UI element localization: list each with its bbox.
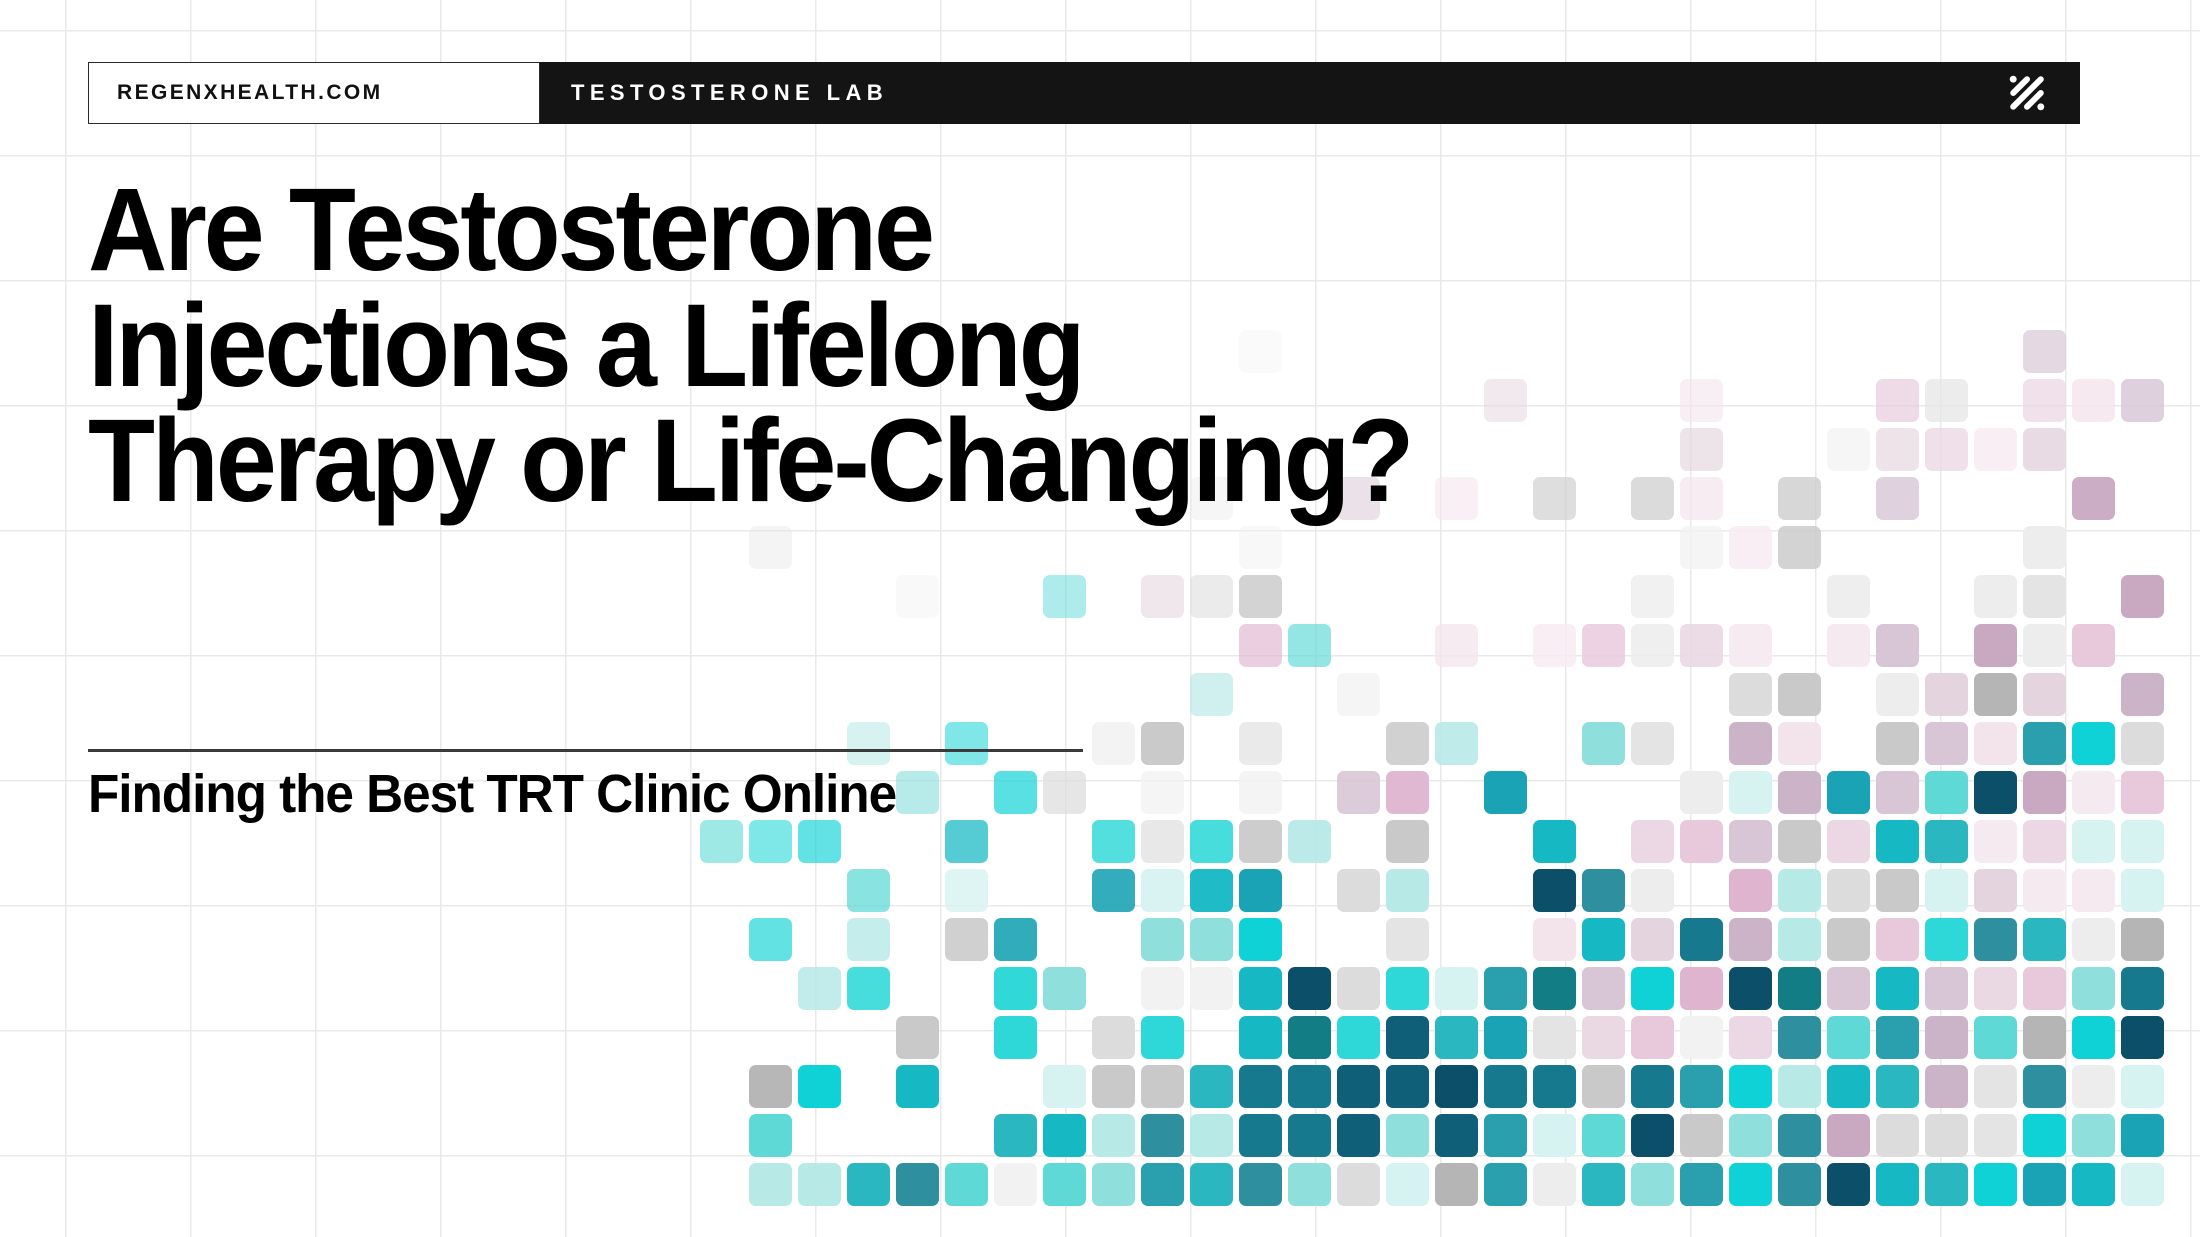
mosaic-tile — [896, 575, 939, 618]
mosaic-tile — [1141, 575, 1184, 618]
mosaic-tile — [1582, 967, 1625, 1010]
mosaic-tile — [1239, 1016, 1282, 1059]
mosaic-tile — [1778, 1016, 1821, 1059]
mosaic-tile — [2072, 1016, 2115, 1059]
mosaic-tile — [1582, 624, 1625, 667]
header-banner: REGENXHEALTH.COM TESTOSTERONE LAB — [88, 62, 2080, 124]
mosaic-tile — [1092, 1114, 1135, 1157]
mosaic-tile — [1141, 1163, 1184, 1206]
mosaic-tile — [2121, 1065, 2164, 1108]
mosaic-tile — [1631, 820, 1674, 863]
mosaic-tile — [2121, 869, 2164, 912]
mosaic-tile — [2023, 428, 2066, 471]
mosaic-tile — [1925, 428, 1968, 471]
mosaic-tile — [1435, 477, 1478, 520]
mosaic-tile — [1631, 624, 1674, 667]
mosaic-tile — [1141, 722, 1184, 765]
mosaic-tile — [1533, 624, 1576, 667]
mosaic-tile — [2121, 1016, 2164, 1059]
mosaic-tile — [1435, 1016, 1478, 1059]
mosaic-tile — [2023, 330, 2066, 373]
mosaic-tile — [1876, 918, 1919, 961]
mosaic-tile — [1729, 722, 1772, 765]
mosaic-tile — [798, 1065, 841, 1108]
mosaic-tile — [1876, 379, 1919, 422]
mosaic-tile — [1337, 673, 1380, 716]
mosaic-tile — [1043, 1114, 1086, 1157]
mosaic-tile — [1533, 477, 1576, 520]
mosaic-tile — [2023, 722, 2066, 765]
mosaic-tile — [1925, 722, 1968, 765]
mosaic-tile — [896, 771, 939, 814]
mosaic-tile — [1827, 967, 1870, 1010]
mosaic-tile — [1582, 918, 1625, 961]
mosaic-tile — [1288, 624, 1331, 667]
mosaic-tile — [749, 1163, 792, 1206]
mosaic-tile — [1680, 967, 1723, 1010]
mosaic-tile — [1729, 1065, 1772, 1108]
mosaic-tile — [2072, 967, 2115, 1010]
mosaic-tile — [1386, 1114, 1429, 1157]
banner-domain-box: REGENXHEALTH.COM — [88, 62, 540, 124]
mosaic-tile — [1386, 1016, 1429, 1059]
mosaic-tile — [798, 820, 841, 863]
mosaic-tile — [2072, 1114, 2115, 1157]
mosaic-tile — [2072, 869, 2115, 912]
mosaic-tile — [1729, 624, 1772, 667]
mosaic-tile — [1778, 869, 1821, 912]
mosaic-tile — [2023, 918, 2066, 961]
mosaic-tile — [1925, 967, 1968, 1010]
mosaic-tile — [2023, 1163, 2066, 1206]
mosaic-tile — [1876, 869, 1919, 912]
mosaic-tile — [1680, 526, 1723, 569]
mosaic-tile — [1190, 673, 1233, 716]
mosaic-tile — [1631, 1016, 1674, 1059]
mosaic-tile — [1778, 526, 1821, 569]
mosaic-tile — [1974, 1163, 2017, 1206]
mosaic-tile — [749, 1065, 792, 1108]
mosaic-tile — [1631, 869, 1674, 912]
mosaic-tile — [1435, 624, 1478, 667]
mosaic-tile — [2121, 918, 2164, 961]
mosaic-tile — [1141, 820, 1184, 863]
mosaic-tile — [1778, 771, 1821, 814]
mosaic-tile — [1288, 1114, 1331, 1157]
mosaic-tile — [1239, 967, 1282, 1010]
mosaic-tile — [1533, 1065, 1576, 1108]
mosaic-tile — [1925, 771, 1968, 814]
mosaic-tile — [2072, 477, 2115, 520]
mosaic-tile — [749, 918, 792, 961]
mosaic-tile — [2121, 1163, 2164, 1206]
mosaic-tile — [1925, 918, 1968, 961]
mosaic-tile — [1680, 624, 1723, 667]
mosaic-tile — [1239, 1065, 1282, 1108]
mosaic-tile — [1484, 1163, 1527, 1206]
mosaic-tile — [1337, 869, 1380, 912]
mosaic-tile — [1974, 918, 2017, 961]
mosaic-tile — [1533, 1016, 1576, 1059]
mosaic-tile — [896, 1065, 939, 1108]
mosaic-tile — [1533, 820, 1576, 863]
mosaic-tile — [1386, 1065, 1429, 1108]
mosaic-tile — [1827, 1065, 1870, 1108]
mosaic-tile — [1876, 1016, 1919, 1059]
mosaic-tile — [994, 1163, 1037, 1206]
mosaic-tile — [1925, 820, 1968, 863]
mosaic-tile — [1092, 869, 1135, 912]
mosaic-tile — [1680, 918, 1723, 961]
mosaic-tile — [1386, 771, 1429, 814]
mosaic-tile — [945, 1163, 988, 1206]
mosaic-tile — [1925, 1163, 1968, 1206]
mosaic-tile — [1974, 722, 2017, 765]
mosaic-tile — [847, 967, 890, 1010]
mosaic-tile — [2121, 722, 2164, 765]
mosaic-tile — [1729, 673, 1772, 716]
mosaic-tile — [1827, 1114, 1870, 1157]
mosaic-tile — [2072, 379, 2115, 422]
mosaic-tile — [1092, 722, 1135, 765]
mosaic-tile — [1631, 477, 1674, 520]
mosaic-tile — [1239, 1114, 1282, 1157]
mosaic-tile — [2023, 379, 2066, 422]
mosaic-tile — [1435, 722, 1478, 765]
divider-rule — [88, 749, 1083, 752]
mosaic-tile — [1680, 477, 1723, 520]
mosaic-tile — [1190, 967, 1233, 1010]
mosaic-tile — [1435, 1114, 1478, 1157]
mosaic-tile — [945, 918, 988, 961]
mosaic-tile — [2023, 820, 2066, 863]
mosaic-tile — [1337, 771, 1380, 814]
mosaic-tile — [1190, 1163, 1233, 1206]
mosaic-tile — [700, 820, 743, 863]
mosaic-tile — [1141, 967, 1184, 1010]
mosaic-tile — [1827, 771, 1870, 814]
mosaic-tile — [1288, 967, 1331, 1010]
mosaic-tile — [1435, 967, 1478, 1010]
mosaic-tile — [1974, 967, 2017, 1010]
mosaic-tile — [2121, 771, 2164, 814]
banner-title-label: TESTOSTERONE LAB — [571, 80, 888, 106]
mosaic-tile — [1925, 379, 1968, 422]
mosaic-tile — [2023, 967, 2066, 1010]
mosaic-tile — [1092, 820, 1135, 863]
mosaic-tile — [1631, 722, 1674, 765]
mosaic-tile — [1925, 1065, 1968, 1108]
mosaic-tile — [1043, 1065, 1086, 1108]
mosaic-tile — [2023, 771, 2066, 814]
mosaic-tile — [1533, 1114, 1576, 1157]
mosaic-tile — [1190, 1114, 1233, 1157]
mosaic-tile — [1288, 1163, 1331, 1206]
mosaic-tile — [1582, 1114, 1625, 1157]
mosaic-tile — [1239, 624, 1282, 667]
mosaic-tile — [1484, 379, 1527, 422]
mosaic-tile — [2023, 1065, 2066, 1108]
mosaic-tile — [1729, 526, 1772, 569]
mosaic-tile — [2023, 526, 2066, 569]
mosaic-tile — [2072, 1065, 2115, 1108]
mosaic-tile — [1484, 967, 1527, 1010]
mosaic-tile — [994, 771, 1037, 814]
mosaic-tile — [1876, 428, 1919, 471]
mosaic-tile — [1974, 428, 2017, 471]
mosaic-tile — [1631, 1163, 1674, 1206]
mosaic-tile — [1729, 1016, 1772, 1059]
mosaic-tile — [1925, 869, 1968, 912]
mosaic-tile — [2023, 1114, 2066, 1157]
mosaic-tile — [1827, 820, 1870, 863]
banner-title-box: TESTOSTERONE LAB — [540, 62, 2080, 124]
mosaic-tile — [1631, 1114, 1674, 1157]
mosaic-tile — [1729, 918, 1772, 961]
mosaic-tile — [1190, 869, 1233, 912]
mosaic-tile — [1680, 1163, 1723, 1206]
mosaic-tile — [1729, 967, 1772, 1010]
mosaic-tile — [847, 722, 890, 765]
mosaic-tile — [1827, 624, 1870, 667]
mosaic-tile — [1974, 771, 2017, 814]
mosaic-tile — [1974, 1065, 2017, 1108]
mosaic-tile — [1876, 771, 1919, 814]
mosaic-tile — [2023, 1016, 2066, 1059]
mosaic-tile — [1631, 967, 1674, 1010]
mosaic-tile — [1827, 575, 1870, 618]
mosaic-tile — [2023, 624, 2066, 667]
mosaic-tile — [2121, 820, 2164, 863]
slide-canvas: REGENXHEALTH.COM TESTOSTERONE LAB Are Te… — [0, 0, 2200, 1237]
mosaic-tile — [798, 967, 841, 1010]
mosaic-tile — [1631, 1065, 1674, 1108]
mosaic-tile — [1582, 722, 1625, 765]
mosaic-tile — [2072, 771, 2115, 814]
mosaic-tile — [1190, 1065, 1233, 1108]
mosaic-tile — [994, 1114, 1037, 1157]
mosaic-tile — [2072, 918, 2115, 961]
mosaic-tile — [1582, 1065, 1625, 1108]
mosaic-tile — [749, 1114, 792, 1157]
mosaic-tile — [1435, 1163, 1478, 1206]
mosaic-tile — [1043, 1163, 1086, 1206]
mosaic-tile — [1729, 771, 1772, 814]
mosaic-tile — [749, 820, 792, 863]
mosaic-tile — [1141, 1114, 1184, 1157]
mosaic-tile — [1680, 820, 1723, 863]
mosaic-tile — [2072, 1163, 2115, 1206]
mosaic-tile — [1680, 1114, 1723, 1157]
mosaic-tile — [1827, 918, 1870, 961]
mosaic-tile — [1827, 1163, 1870, 1206]
mosaic-tile — [1680, 379, 1723, 422]
mosaic-tile — [1141, 1065, 1184, 1108]
dotted-x-logo-icon — [2004, 70, 2050, 116]
mosaic-tile — [1778, 1163, 1821, 1206]
mosaic-tile — [1729, 1163, 1772, 1206]
mosaic-tile — [1876, 722, 1919, 765]
mosaic-tile — [1778, 967, 1821, 1010]
mosaic-tile — [1876, 1065, 1919, 1108]
mosaic-tile — [1337, 1163, 1380, 1206]
mosaic-tile — [1141, 771, 1184, 814]
mosaic-tile — [1876, 1163, 1919, 1206]
mosaic-tile — [1190, 575, 1233, 618]
mosaic-tile — [1043, 771, 1086, 814]
mosaic-tile — [2121, 379, 2164, 422]
mosaic-tile — [1239, 722, 1282, 765]
mosaic-tile — [847, 918, 890, 961]
mosaic-tile — [994, 1016, 1037, 1059]
mosaic-tile — [2023, 673, 2066, 716]
mosaic-tile — [1778, 477, 1821, 520]
mosaic-tile — [1239, 526, 1282, 569]
mosaic-tile — [749, 526, 792, 569]
page-title: Are Testosterone Injections a Lifelong T… — [88, 173, 1437, 520]
mosaic-tile — [1484, 1016, 1527, 1059]
mosaic-tile — [994, 918, 1037, 961]
mosaic-tile — [1876, 1114, 1919, 1157]
mosaic-tile — [1582, 1016, 1625, 1059]
mosaic-tile — [1680, 1065, 1723, 1108]
mosaic-tile — [945, 869, 988, 912]
mosaic-tile — [1876, 820, 1919, 863]
mosaic-tile — [1386, 967, 1429, 1010]
mosaic-tile — [1190, 820, 1233, 863]
banner-domain-label: REGENXHEALTH.COM — [117, 81, 383, 105]
mosaic-tile — [1778, 1065, 1821, 1108]
mosaic-tile — [1974, 673, 2017, 716]
mosaic-tile — [2121, 967, 2164, 1010]
mosaic-tile — [1876, 624, 1919, 667]
mosaic-tile — [1778, 1114, 1821, 1157]
mosaic-tile — [1337, 967, 1380, 1010]
mosaic-tile — [2023, 575, 2066, 618]
mosaic-tile — [1925, 1114, 1968, 1157]
mosaic-tile — [1533, 1163, 1576, 1206]
mosaic-tile — [1827, 1016, 1870, 1059]
mosaic-tile — [1239, 575, 1282, 618]
mosaic-tile — [847, 1163, 890, 1206]
mosaic-tile — [1729, 1114, 1772, 1157]
mosaic-tile — [1729, 820, 1772, 863]
mosaic-tile — [1533, 869, 1576, 912]
mosaic-tile — [1827, 428, 1870, 471]
mosaic-tile — [1239, 820, 1282, 863]
mosaic-tile — [1582, 1163, 1625, 1206]
mosaic-tile — [1533, 967, 1576, 1010]
mosaic-tile — [1239, 1163, 1282, 1206]
mosaic-tile — [1778, 722, 1821, 765]
mosaic-tile — [1974, 575, 2017, 618]
mosaic-tile — [1288, 820, 1331, 863]
mosaic-tile — [1925, 673, 1968, 716]
mosaic-tile — [1974, 1114, 2017, 1157]
mosaic-tile — [2121, 673, 2164, 716]
mosaic-tile — [1386, 918, 1429, 961]
mosaic-tile — [1631, 918, 1674, 961]
mosaic-tile — [896, 1016, 939, 1059]
mosaic-tile — [1778, 673, 1821, 716]
mosaic-tile — [1141, 869, 1184, 912]
mosaic-tile — [847, 869, 890, 912]
mosaic-tile — [1925, 1016, 1968, 1059]
mosaic-tile — [2072, 722, 2115, 765]
mosaic-tile — [1974, 624, 2017, 667]
mosaic-tile — [1778, 820, 1821, 863]
mosaic-tile — [1337, 1065, 1380, 1108]
mosaic-tile — [994, 967, 1037, 1010]
mosaic-tile — [1386, 820, 1429, 863]
mosaic-tile — [1386, 722, 1429, 765]
mosaic-tile — [2121, 1114, 2164, 1157]
mosaic-tile — [1778, 918, 1821, 961]
mosaic-tile — [1386, 1163, 1429, 1206]
mosaic-tile — [1631, 575, 1674, 618]
mosaic-tile — [1239, 869, 1282, 912]
mosaic-tile — [896, 1163, 939, 1206]
mosaic-tile — [1680, 771, 1723, 814]
mosaic-tile — [1092, 1016, 1135, 1059]
mosaic-tile — [1484, 1114, 1527, 1157]
mosaic-tile — [1680, 428, 1723, 471]
mosaic-tile — [1974, 820, 2017, 863]
mosaic-tile — [2121, 575, 2164, 618]
mosaic-tile — [798, 1163, 841, 1206]
mosaic-tile — [1680, 1016, 1723, 1059]
mosaic-tile — [1974, 1016, 2017, 1059]
mosaic-tile — [1288, 1016, 1331, 1059]
mosaic-tile — [1288, 1065, 1331, 1108]
mosaic-tile — [945, 820, 988, 863]
mosaic-tile — [1533, 918, 1576, 961]
mosaic-tile — [1092, 1065, 1135, 1108]
mosaic-tile — [1827, 869, 1870, 912]
mosaic-tile — [1876, 477, 1919, 520]
mosaic-tile — [1141, 1016, 1184, 1059]
mosaic-tile — [1239, 918, 1282, 961]
mosaic-tile — [2072, 624, 2115, 667]
mosaic-tile — [1974, 869, 2017, 912]
mosaic-tile — [1092, 1163, 1135, 1206]
mosaic-tile — [1141, 918, 1184, 961]
mosaic-tile — [1435, 1065, 1478, 1108]
mosaic-tile — [2072, 820, 2115, 863]
mosaic-tile — [945, 722, 988, 765]
page-subtitle: Finding the Best TRT Clinic Online — [88, 763, 896, 825]
mosaic-tile — [1239, 771, 1282, 814]
mosaic-tile — [1190, 918, 1233, 961]
mosaic-tile — [2023, 869, 2066, 912]
mosaic-tile — [1386, 869, 1429, 912]
mosaic-tile — [1876, 673, 1919, 716]
mosaic-tile — [1729, 869, 1772, 912]
mosaic-tile — [1337, 1016, 1380, 1059]
mosaic-tile — [1582, 869, 1625, 912]
mosaic-tile — [1043, 575, 1086, 618]
mosaic-tile — [1484, 1065, 1527, 1108]
mosaic-tile — [1484, 771, 1527, 814]
mosaic-tile — [1043, 967, 1086, 1010]
mosaic-tile — [1337, 1114, 1380, 1157]
mosaic-tile — [1876, 967, 1919, 1010]
